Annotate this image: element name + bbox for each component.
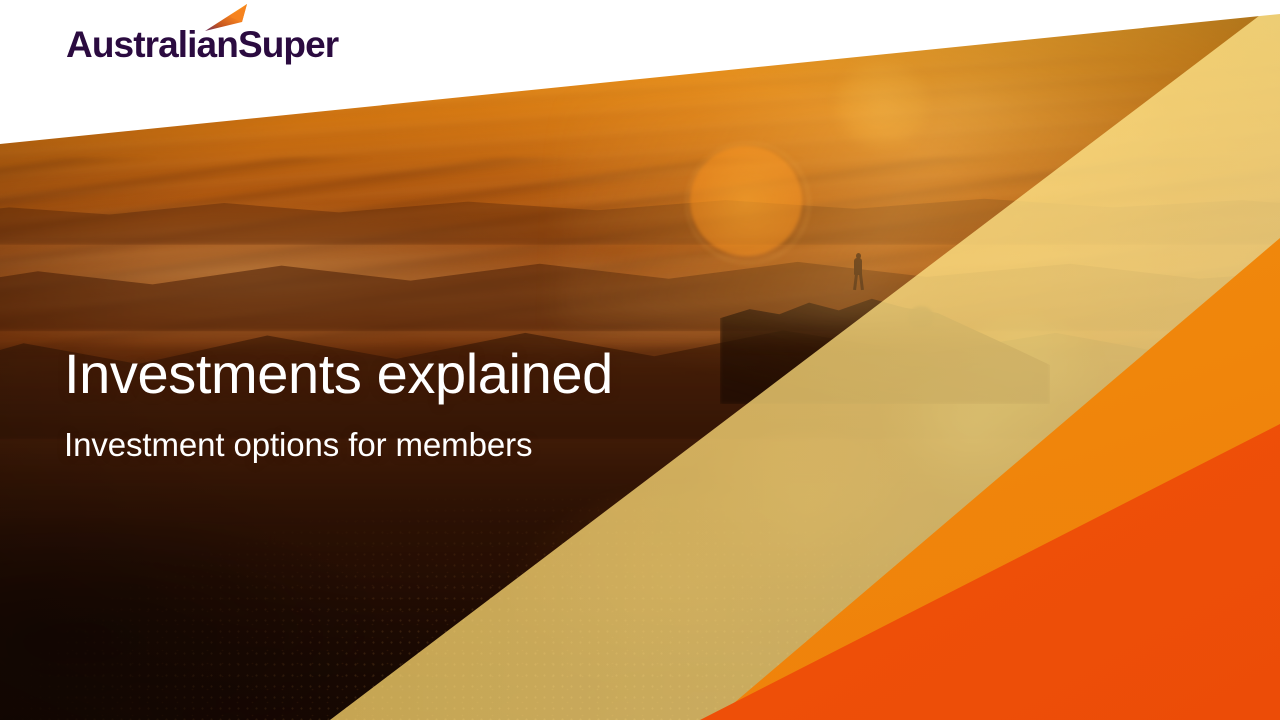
slide-canvas: AustralianSuper Investments explained In… (0, 0, 1280, 720)
arrow-swoosh-icon (203, 2, 251, 32)
slide-title: Investments explained (64, 344, 784, 404)
slide-subtitle: Investment options for members (64, 426, 784, 464)
australiansuper-logo[interactable]: AustralianSuper (66, 26, 338, 63)
title-block: Investments explained Investment options… (64, 344, 784, 464)
logo-text-super: Super (238, 24, 338, 65)
